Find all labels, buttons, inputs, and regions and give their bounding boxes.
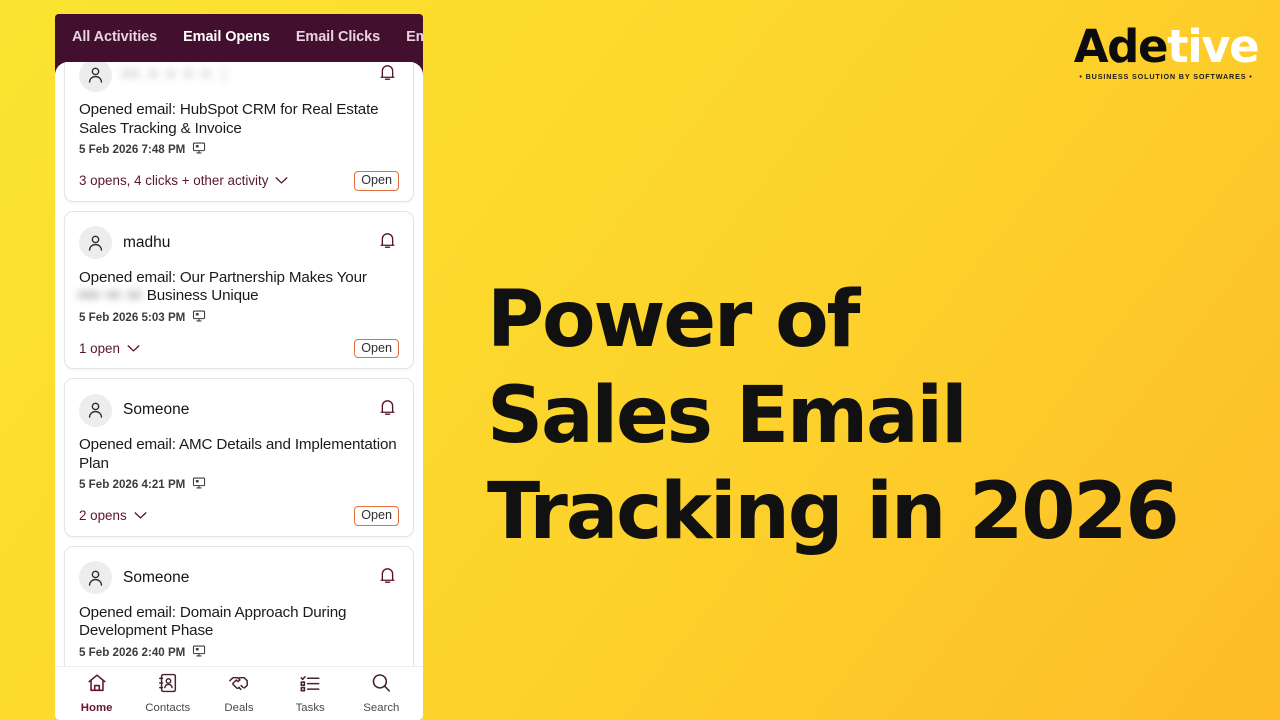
nav-label: Home	[81, 702, 113, 714]
contacts-icon	[157, 672, 179, 699]
person-icon	[79, 62, 112, 92]
activity-summary-label: 3 opens, 4 clicks + other activity	[79, 173, 268, 188]
email-subject-line-1: Opened email: Our Partnership Makes Your	[79, 269, 367, 286]
redacted-text: ••• •• ••	[79, 287, 143, 306]
nav-label: Tasks	[296, 702, 325, 714]
nav-item-contacts[interactable]: Contacts	[135, 672, 201, 714]
bell-icon[interactable]	[378, 565, 397, 591]
timestamp: 5 Feb 2026 5:03 PM	[79, 311, 185, 324]
checklist-icon	[299, 672, 321, 699]
card-header: Someone	[79, 559, 399, 597]
logo-tagline: • BUSINESS SOLUTION BY SOFTWARES •	[1066, 72, 1266, 81]
bell-icon[interactable]	[378, 62, 397, 88]
desktop-icon	[192, 476, 206, 493]
contact-name: •• • • • • :	[123, 66, 378, 84]
contact-name: Someone	[123, 401, 378, 419]
activity-tabs: All ActivitiesEmail OpensEmail ClicksEma…	[55, 14, 423, 62]
home-icon	[86, 672, 108, 699]
nav-label: Search	[363, 702, 399, 714]
person-icon	[79, 394, 112, 427]
nav-item-tasks[interactable]: Tasks	[277, 672, 343, 714]
person-icon	[79, 226, 112, 259]
desktop-icon	[192, 141, 206, 158]
email-subject-line-2: Development Phase	[79, 622, 213, 639]
logo-word-light: tive	[1167, 20, 1258, 73]
email-subject-line-1: Opened email: AMC Details and Implementa…	[79, 436, 397, 453]
card-meta: 5 Feb 2026 7:48 PM	[79, 141, 399, 158]
card-footer: 1 openOpen	[79, 339, 399, 359]
email-subject-line-2: Plan	[79, 455, 109, 472]
activity-summary-toggle[interactable]: 3 opens, 4 clicks + other activity	[79, 173, 354, 188]
activity-summary-toggle[interactable]: 2 opens	[79, 508, 354, 523]
timestamp: 5 Feb 2026 7:48 PM	[79, 143, 185, 156]
email-subject-line-2: Business Unique	[147, 287, 259, 304]
card-header: Someone	[79, 391, 399, 429]
status-badge: Open	[354, 506, 399, 526]
card-meta: 5 Feb 2026 4:21 PM	[79, 476, 399, 493]
card-meta: 5 Feb 2026 2:40 PM	[79, 644, 399, 661]
status-badge: Open	[354, 339, 399, 359]
headline-line-2: Sales Email	[487, 368, 1207, 464]
tab-email-clicks[interactable]: Email Clicks	[296, 29, 380, 47]
activity-summary-label: 1 open	[79, 341, 120, 356]
email-subject: Opened email: AMC Details and Implementa…	[79, 436, 399, 473]
card-header: madhu	[79, 224, 399, 262]
nav-item-home[interactable]: Home	[64, 672, 130, 714]
logo-wordmark: Adetive	[1066, 24, 1266, 69]
chevron-down-icon[interactable]	[127, 344, 140, 353]
timestamp: 5 Feb 2026 2:40 PM	[79, 646, 185, 659]
person-icon	[79, 561, 112, 594]
tab-all-activities[interactable]: All Activities	[72, 29, 157, 47]
nav-item-search[interactable]: Search	[348, 672, 414, 714]
brand-logo: Adetive • BUSINESS SOLUTION BY SOFTWARES…	[1066, 24, 1266, 81]
email-subject-line-1: Opened email: Domain Approach During	[79, 604, 346, 621]
bell-icon[interactable]	[378, 397, 397, 423]
activity-card[interactable]: •• • • • • :Opened email: HubSpot CRM fo…	[64, 62, 414, 202]
timestamp: 5 Feb 2026 4:21 PM	[79, 478, 185, 491]
handshake-icon	[227, 672, 250, 699]
email-subject: Opened email: HubSpot CRM for Real Estat…	[79, 101, 399, 138]
headline-line-1: Power of	[487, 272, 1207, 368]
card-meta: 5 Feb 2026 5:03 PM	[79, 309, 399, 326]
page-title: Power of Sales Email Tracking in 2026	[487, 272, 1207, 560]
email-subject-line-1: Opened email: HubSpot CRM for Real Estat…	[79, 101, 378, 118]
search-icon	[370, 672, 392, 699]
phone-mockup: All ActivitiesEmail OpensEmail ClicksEma…	[55, 14, 423, 720]
chevron-down-icon[interactable]	[134, 511, 147, 520]
email-subject: Opened email: Domain Approach DuringDeve…	[79, 604, 399, 641]
card-footer: 2 opensOpen	[79, 506, 399, 526]
headline-line-3: Tracking in 2026	[487, 464, 1207, 560]
activity-card[interactable]: madhuOpened email: Our Partnership Makes…	[64, 211, 414, 370]
email-subject-line-2: Sales Tracking & Invoice	[79, 120, 242, 137]
bell-icon[interactable]	[378, 230, 397, 256]
email-subject: Opened email: Our Partnership Makes Your…	[79, 269, 399, 306]
contact-name: madhu	[123, 234, 378, 252]
activity-card-list[interactable]: •• • • • • :Opened email: HubSpot CRM fo…	[64, 62, 414, 666]
desktop-icon	[192, 644, 206, 661]
card-footer: 3 opens, 4 clicks + other activityOpen	[79, 171, 399, 191]
desktop-icon	[192, 309, 206, 326]
activity-summary-label: 2 opens	[79, 508, 127, 523]
nav-label: Deals	[224, 702, 253, 714]
tab-email-rep[interactable]: Email Rep	[406, 29, 423, 47]
nav-label: Contacts	[145, 702, 190, 714]
tab-email-opens[interactable]: Email Opens	[183, 29, 270, 47]
status-badge: Open	[354, 171, 399, 191]
phone-screen: •• • • • • :Opened email: HubSpot CRM fo…	[55, 62, 423, 666]
card-header: •• • • • • :	[79, 62, 399, 94]
activity-card[interactable]: SomeoneOpened email: AMC Details and Imp…	[64, 378, 414, 537]
chevron-down-icon[interactable]	[275, 176, 288, 185]
contact-name: Someone	[123, 569, 378, 587]
activity-summary-toggle[interactable]: 1 open	[79, 341, 354, 356]
nav-item-deals[interactable]: Deals	[206, 672, 272, 714]
logo-word-dark: Ade	[1074, 20, 1167, 73]
activity-card[interactable]: SomeoneOpened email: Domain Approach Dur…	[64, 546, 414, 666]
bottom-navigation: HomeContactsDealsTasksSearch	[55, 666, 423, 720]
